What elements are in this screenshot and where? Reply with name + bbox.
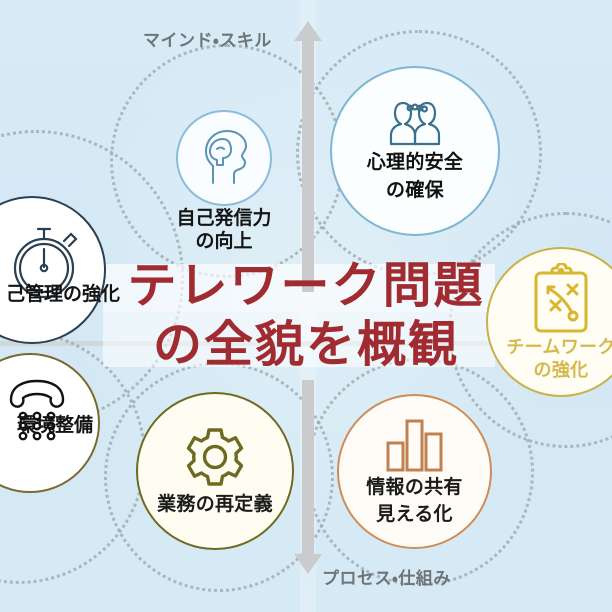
node-label-line1: 自己発信力 — [132, 208, 316, 231]
head-brain-icon — [193, 127, 255, 189]
node-label-line1: 情報の共有 — [366, 477, 463, 499]
node-label-self-management: 己管理の強化 — [0, 284, 138, 307]
two-people-icon — [377, 100, 453, 146]
node-psychological-safety[interactable]: 心理的安全 の確保 — [330, 66, 500, 236]
gear-icon — [183, 426, 247, 490]
headline-backdrop-upper — [103, 264, 495, 312]
bar-chart-icon — [385, 417, 445, 473]
node-label-line1: 環境整備 — [0, 415, 118, 438]
node-label-line1: 心理的安全 — [367, 152, 464, 174]
node-label-line2: の強化 — [534, 360, 589, 381]
node-label-line1: 己管理の強化 — [0, 284, 138, 307]
clipboard-strategy-icon — [532, 263, 590, 333]
node-self-expression[interactable] — [176, 110, 272, 206]
arrow-down-icon — [302, 380, 314, 555]
node-information-sharing[interactable]: 情報の共有 見える化 — [337, 394, 492, 549]
node-label-line1: チームワーク — [506, 337, 612, 358]
node-label-line2: 見える化 — [376, 504, 453, 526]
node-label-self-expression: 自己発信力 の向上 — [132, 208, 316, 254]
node-label-environment-setup: 環境整備 — [0, 415, 118, 438]
node-label-line2: の向上 — [132, 231, 316, 254]
arrow-up-icon — [302, 40, 314, 292]
node-work-redefinition[interactable]: 業務の再定義 — [136, 392, 294, 550]
node-label-line1: 業務の再定義 — [157, 494, 273, 516]
node-label-line2: の確保 — [386, 180, 444, 202]
axis-label-top: マインド・スキル — [143, 26, 272, 51]
axis-label-bottom: プロセス・仕組み — [322, 564, 451, 589]
infographic-canvas: マインド・スキル プロセス・仕組み 心理的安全 の確保 — [0, 0, 612, 612]
